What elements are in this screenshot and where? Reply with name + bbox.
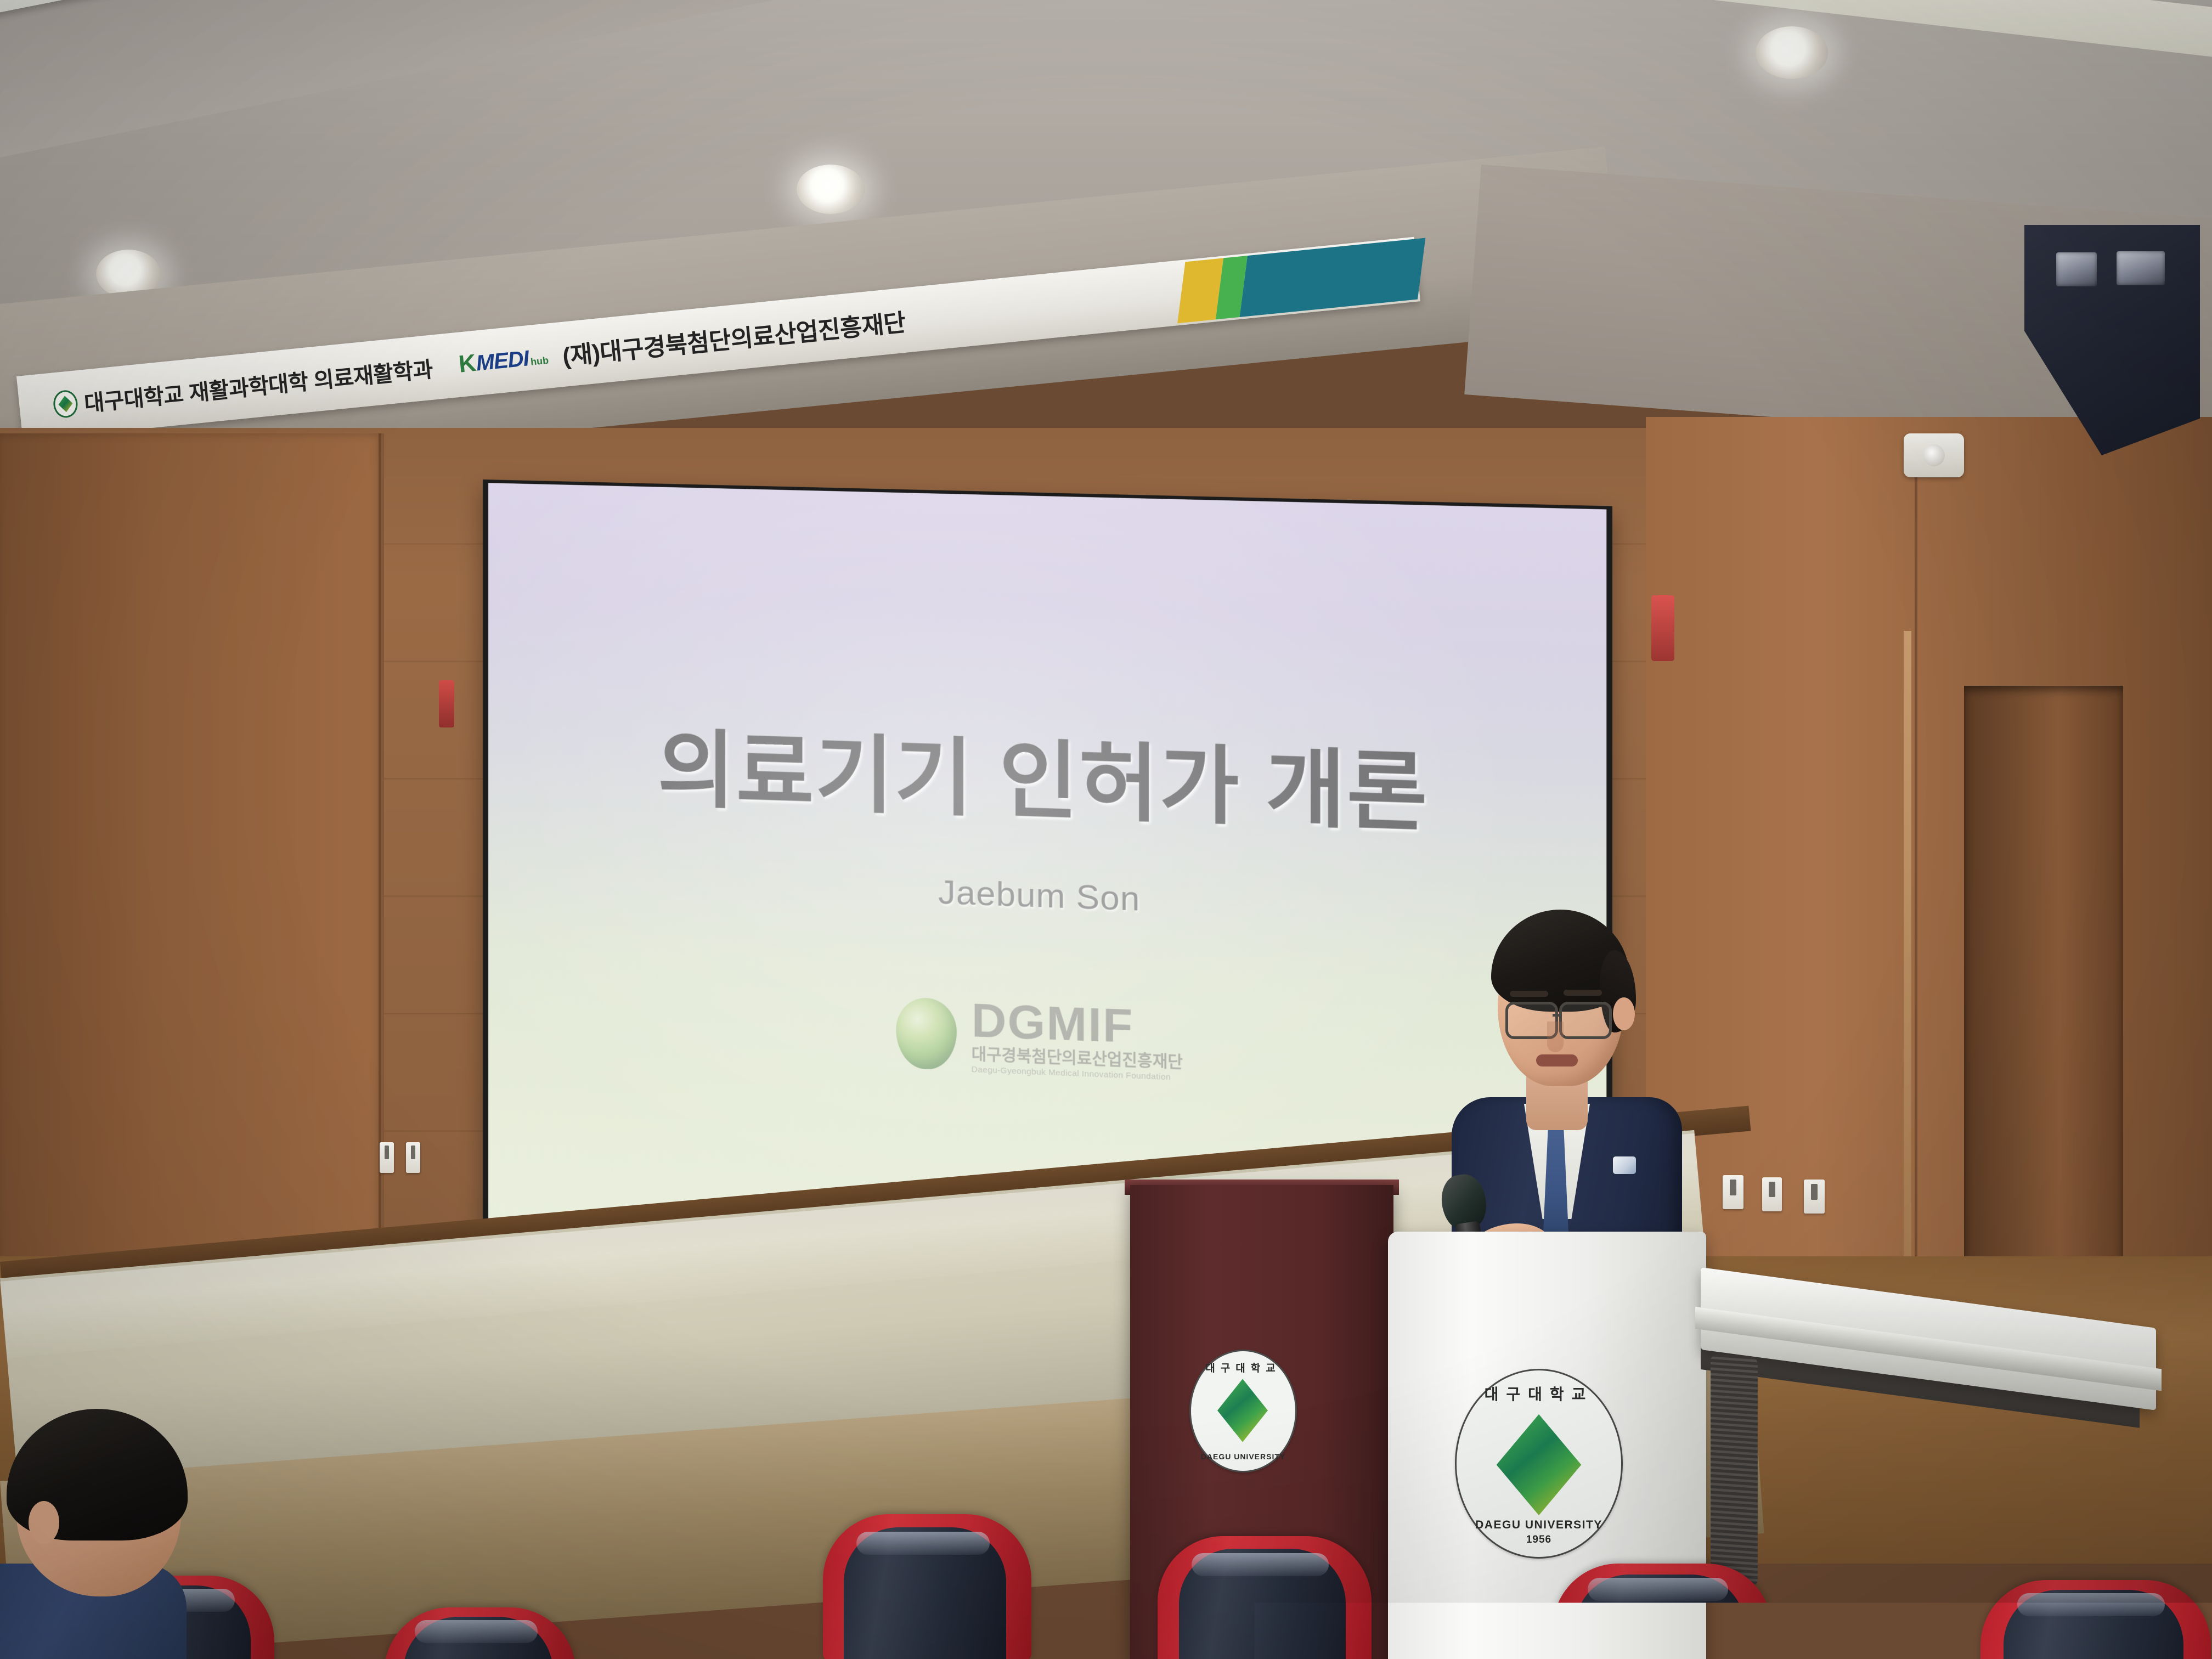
wall-trim	[1904, 631, 1911, 1262]
lapel-pin-icon	[1613, 1156, 1636, 1174]
attendee-ear	[29, 1501, 59, 1544]
presenter-ear	[1613, 997, 1635, 1030]
dgmif-orb-icon	[896, 997, 957, 1070]
recessed-downlight-icon	[1756, 26, 1828, 79]
podium-speaker-grille-icon	[1711, 1353, 1758, 1587]
ceiling-sensor-icon	[1904, 433, 1964, 477]
dgmif-logo: DGMIF 대구경북첨단의료산업진흥재단 Daegu-Gyeongbuk Med…	[896, 994, 1183, 1082]
seated-attendee	[0, 1393, 269, 1659]
presenter-mouth	[1536, 1054, 1578, 1066]
daegu-university-seal-icon: 대구대학교 DAEGU UNIVERSITY	[1189, 1350, 1297, 1472]
presenter-eyebrow-left	[1510, 991, 1548, 997]
wall-fixture-icon	[1651, 595, 1674, 661]
door-recess-right[interactable]	[1964, 686, 2123, 1344]
daegu-university-shield-icon	[52, 389, 79, 419]
auditorium-seat[interactable]	[823, 1514, 1031, 1659]
auditorium-seat[interactable]	[1553, 1564, 1772, 1659]
presenter-eyebrow-right	[1564, 990, 1602, 996]
dgmif-acronym: DGMIF	[972, 996, 1183, 1052]
kmedi-k: K	[458, 351, 477, 377]
presenter-nose	[1547, 1022, 1564, 1052]
wall-fixture-icon	[439, 680, 454, 727]
wall-outlet-plate-icon[interactable]	[1804, 1180, 1825, 1214]
slide-subtitle: Jaebum Son	[938, 872, 1141, 919]
kmedi-hub-logo: K MEDI hub	[458, 344, 549, 377]
slide-title: 의료기기 인허가 개론	[658, 701, 1429, 847]
seal-year-text: 1956	[1457, 1534, 1621, 1546]
daegu-university-seal-icon: 대구대학교 DAEGU UNIVERSITY 1956	[1455, 1369, 1623, 1559]
wall-seam	[1915, 433, 1917, 1333]
wall-panel-left	[0, 433, 384, 1289]
seal-english-text: DAEGU UNIVERSITY	[1191, 1452, 1295, 1461]
auditorium-scene: 대구대학교 재활과학대학 의료재활학과 K MEDI hub (재)대구경북첨단…	[0, 0, 2212, 1659]
wall-outlet-plate-icon[interactable]	[380, 1142, 394, 1173]
speaker-driver	[2056, 252, 2097, 286]
recessed-downlight-icon	[797, 165, 865, 214]
auditorium-seat[interactable]	[1980, 1580, 2211, 1659]
speaker-driver	[2117, 251, 2165, 285]
kmedi-hub: hub	[530, 356, 549, 367]
seal-english-text: DAEGU UNIVERSITY	[1457, 1519, 1621, 1532]
wall-outlet-plate-icon[interactable]	[1723, 1175, 1743, 1209]
seal-korean-text: 대구대학교	[1457, 1383, 1621, 1404]
wall-outlet-plate-icon[interactable]	[406, 1142, 420, 1173]
wall-outlet-plate-icon[interactable]	[1762, 1177, 1782, 1211]
microphone-head	[1438, 1171, 1489, 1230]
seal-korean-text: 대구대학교	[1191, 1360, 1295, 1375]
wall-panel-right	[1646, 417, 2212, 1350]
eyeglasses-icon	[1559, 1002, 1612, 1039]
auditorium-seat[interactable]	[1158, 1536, 1372, 1659]
kmedi-medi: MEDI	[475, 347, 529, 374]
auditorium-seat[interactable]	[384, 1607, 576, 1659]
eyeglasses-bridge	[1553, 1014, 1561, 1017]
